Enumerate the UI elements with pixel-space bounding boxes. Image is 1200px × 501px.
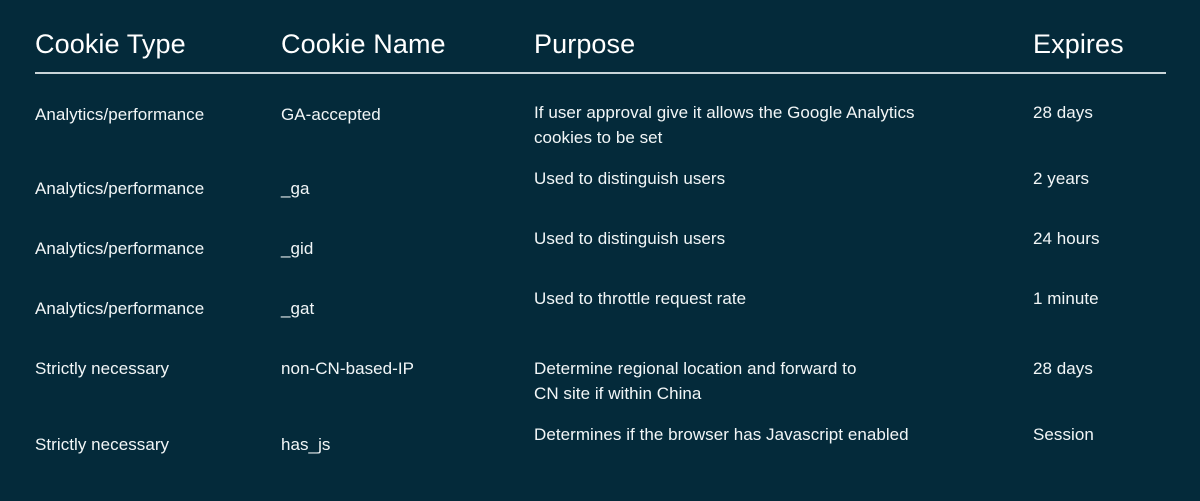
- cell-expires: 28 days: [1033, 73, 1166, 150]
- column-header-cookie-name: Cookie Name: [281, 28, 534, 73]
- cell-cookie-type: Analytics/performance: [35, 73, 281, 150]
- purpose-line: CN site if within China: [534, 381, 1033, 406]
- cell-purpose: Used to distinguish users: [534, 150, 1033, 210]
- cell-cookie-type: Analytics/performance: [35, 270, 281, 330]
- column-header-cookie-type: Cookie Type: [35, 28, 281, 73]
- purpose-line: cookies to be set: [534, 125, 1033, 150]
- cell-purpose: Used to throttle request rate: [534, 270, 1033, 330]
- purpose-line: If user approval give it allows the Goog…: [534, 100, 1033, 125]
- cell-purpose: Determine regional location and forward …: [534, 330, 1033, 406]
- cell-expires: 2 years: [1033, 150, 1166, 210]
- cell-cookie-type: Strictly necessary: [35, 406, 281, 466]
- cell-expires: 1 minute: [1033, 270, 1166, 330]
- cell-cookie-name: has_js: [281, 406, 534, 466]
- cell-expires: Session: [1033, 406, 1166, 466]
- cell-cookie-name: _ga: [281, 150, 534, 210]
- table-row: Strictly necessary non-CN-based-IP Deter…: [35, 330, 1166, 406]
- cell-purpose: Used to distinguish users: [534, 210, 1033, 270]
- cell-purpose: If user approval give it allows the Goog…: [534, 73, 1033, 150]
- cell-cookie-name: _gid: [281, 210, 534, 270]
- table-row: Analytics/performance _gid Used to disti…: [35, 210, 1166, 270]
- cell-expires: 24 hours: [1033, 210, 1166, 270]
- column-header-expires: Expires: [1033, 28, 1166, 73]
- table-body: Analytics/performance GA-accepted If use…: [35, 73, 1166, 466]
- table-header-row: Cookie Type Cookie Name Purpose Expires: [35, 28, 1166, 73]
- cookie-table: Cookie Type Cookie Name Purpose Expires …: [35, 28, 1166, 466]
- cell-cookie-name: _gat: [281, 270, 534, 330]
- table-row: Strictly necessary has_js Determines if …: [35, 406, 1166, 466]
- table-row: Analytics/performance _gat Used to throt…: [35, 270, 1166, 330]
- cell-expires: 28 days: [1033, 330, 1166, 406]
- table-row: Analytics/performance GA-accepted If use…: [35, 73, 1166, 150]
- cell-cookie-name: non-CN-based-IP: [281, 330, 534, 406]
- table-row: Analytics/performance _ga Used to distin…: [35, 150, 1166, 210]
- purpose-line: Determine regional location and forward …: [534, 356, 1033, 381]
- cell-cookie-type: Strictly necessary: [35, 330, 281, 406]
- cell-cookie-type: Analytics/performance: [35, 150, 281, 210]
- cell-cookie-name: GA-accepted: [281, 73, 534, 150]
- cell-purpose: Determines if the browser has Javascript…: [534, 406, 1033, 466]
- column-header-purpose: Purpose: [534, 28, 1033, 73]
- cookie-policy-table-page: Cookie Type Cookie Name Purpose Expires …: [0, 0, 1200, 501]
- table-header: Cookie Type Cookie Name Purpose Expires: [35, 28, 1166, 73]
- cell-cookie-type: Analytics/performance: [35, 210, 281, 270]
